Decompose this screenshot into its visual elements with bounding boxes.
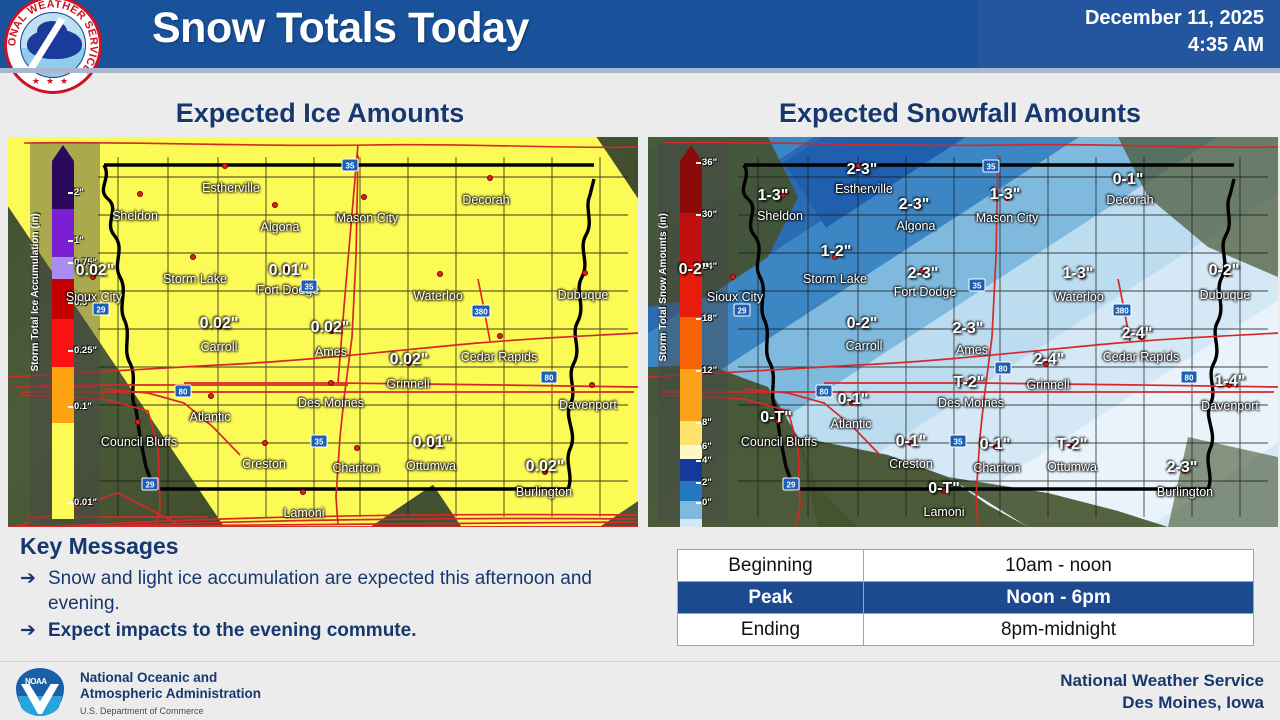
timing-phase-value: Noon - 6pm xyxy=(864,582,1254,614)
snow-legend-seg-8in xyxy=(680,421,702,445)
amount-label: 0.02" xyxy=(311,319,350,337)
snow-legend-tick-3: 18" xyxy=(702,313,717,324)
noaa-name-line-2: Atmospheric Administration xyxy=(80,686,261,702)
city-label: Grinnell xyxy=(1026,378,1069,392)
noaa-name-line-1: National Oceanic and xyxy=(80,670,261,686)
city-label: Decorah xyxy=(1106,193,1153,207)
amount-label: 0-T" xyxy=(928,480,960,498)
city-label: Atlantic xyxy=(190,410,231,424)
noaa-wordmark: NOAA xyxy=(25,677,47,686)
city-marker-dot xyxy=(190,254,196,260)
snow-legend-arrow-icon xyxy=(680,145,702,161)
city-marker-dot xyxy=(272,202,278,208)
city-label: Estherville xyxy=(835,182,893,196)
city-label: Lamoni xyxy=(284,506,325,520)
amount-label: 2-3" xyxy=(847,161,878,179)
ice-legend-tick-6: 0.01" xyxy=(74,497,97,508)
city-label: Chariton xyxy=(973,461,1020,475)
storm-timing-table: Beginning10am - noonPeakNoon - 6pmEnding… xyxy=(677,549,1254,646)
snow-legend-axis-label: Storm Total Snow Amounts (in) xyxy=(658,213,669,361)
city-label: Cedar Rapids xyxy=(1103,350,1179,364)
city-marker-dot xyxy=(589,382,595,388)
amount-label: 2-4" xyxy=(1034,351,1065,369)
city-label: Chariton xyxy=(332,461,379,475)
amount-label: 1-4" xyxy=(1215,373,1246,391)
city-label: Atlantic xyxy=(831,417,872,431)
city-label: Des Moines xyxy=(298,396,364,410)
key-message-item: ➔Snow and light ice accumulation are exp… xyxy=(20,566,640,616)
amount-label: 2-3" xyxy=(1167,459,1198,477)
seal-stars-icon: ★★★ xyxy=(7,76,99,87)
snow-legend-tick-7: 4" xyxy=(702,455,712,466)
snow-legend-tick-5: 8" xyxy=(702,417,712,428)
city-label: Lamoni xyxy=(924,505,965,519)
ice-legend-seg-2in xyxy=(52,161,74,209)
timing-phase-label: Ending xyxy=(678,614,864,646)
amount-label: 2-3" xyxy=(899,196,930,214)
interstate-shield-icon: 35 xyxy=(342,159,359,172)
interstate-shield-icon: 35 xyxy=(950,435,967,448)
amount-label: T-2" xyxy=(954,374,985,392)
header-date: December 11, 2025 xyxy=(1085,5,1264,32)
interstate-shield-icon: 80 xyxy=(541,371,558,384)
snow-legend-tick-1: 30" xyxy=(702,209,717,220)
timing-phase-label: Peak xyxy=(678,582,864,614)
city-label: Creston xyxy=(889,457,933,471)
city-label: Des Moines xyxy=(938,396,1004,410)
key-messages-section: Key Messages ➔Snow and light ice accumul… xyxy=(20,533,640,645)
city-marker-dot xyxy=(730,274,736,280)
snow-legend-seg-12in xyxy=(680,369,702,421)
city-label: Creston xyxy=(242,457,286,471)
arrow-bullet-icon: ➔ xyxy=(20,618,48,643)
key-messages-list: ➔Snow and light ice accumulation are exp… xyxy=(20,566,640,643)
noaa-agency-name: National Oceanic and Atmospheric Adminis… xyxy=(80,670,261,716)
interstate-shield-icon: 35 xyxy=(969,279,986,292)
city-marker-dot xyxy=(487,175,493,181)
city-marker-dot xyxy=(361,194,367,200)
city-label: Dubuque xyxy=(558,288,609,302)
interstate-shield-icon: 29 xyxy=(734,304,751,317)
amount-label: 0-2" xyxy=(1209,262,1240,280)
city-marker-dot xyxy=(208,393,214,399)
interstate-shield-icon: 29 xyxy=(783,478,800,491)
amount-label: 0.02" xyxy=(390,351,429,369)
amount-label: 0-1" xyxy=(1113,171,1144,189)
city-marker-dot xyxy=(300,489,306,495)
expected-ice-amounts-map[interactable]: Storm Total Ice Accumulation (in) 2" 1" … xyxy=(8,137,638,527)
ice-legend-seg-075in xyxy=(52,257,74,279)
amount-label: 0-2" xyxy=(847,315,878,333)
city-label: Sheldon xyxy=(757,209,803,223)
ice-legend-arrow-icon xyxy=(52,145,74,161)
city-marker-dot xyxy=(497,333,503,339)
amount-label: 1-3" xyxy=(758,187,789,205)
noaa-seal-icon: NOAA xyxy=(16,668,64,716)
amount-label: 1-2" xyxy=(821,243,852,261)
city-label: Fort Dodge xyxy=(894,285,957,299)
interstate-shield-icon: 35 xyxy=(311,435,328,448)
svg-text:NATIONAL WEATHER SERVICE: NATIONAL WEATHER SERVICE xyxy=(7,0,99,76)
city-label: Dubuque xyxy=(1200,288,1251,302)
city-label: Council Bluffs xyxy=(101,435,177,449)
snow-legend-seg-18in xyxy=(680,317,702,369)
interstate-shield-icon: 380 xyxy=(1113,304,1132,317)
arrow-bullet-icon: ➔ xyxy=(20,566,48,591)
ice-legend-seg-01in xyxy=(52,367,74,423)
city-label: Sheldon xyxy=(112,209,158,223)
amount-label: 0.02" xyxy=(200,315,239,333)
amount-label: 1-3" xyxy=(990,186,1021,204)
header-time: 4:35 AM xyxy=(1188,32,1264,59)
timing-phase-value: 10am - noon xyxy=(864,550,1254,582)
city-label: Mason City xyxy=(976,211,1039,225)
amount-label: 0-1" xyxy=(838,391,869,409)
ice-legend-seg-001in xyxy=(52,423,74,519)
city-label: Waterloo xyxy=(1054,290,1104,304)
city-label: Burlington xyxy=(1157,485,1213,499)
interstate-shield-icon: 80 xyxy=(175,385,192,398)
snow-legend-tick-8: 2" xyxy=(702,477,712,488)
city-label: Carroll xyxy=(846,339,883,353)
interstate-shield-icon: 80 xyxy=(816,385,833,398)
ice-legend-seg-1in xyxy=(52,209,74,257)
timing-row: Beginning10am - noon xyxy=(678,550,1254,582)
city-label: Storm Lake xyxy=(803,272,867,286)
amount-label: 0.01" xyxy=(413,434,452,452)
city-label: Waterloo xyxy=(413,289,463,303)
amount-label: 0.02" xyxy=(76,262,115,280)
amount-label: 2-3" xyxy=(908,265,939,283)
city-label: Storm Lake xyxy=(163,272,227,286)
page-footer: NOAA National Oceanic and Atmospheric Ad… xyxy=(0,661,1280,720)
amount-label: 1-3" xyxy=(1063,265,1094,283)
city-label: Council Bluffs xyxy=(741,435,817,449)
city-marker-dot xyxy=(222,163,228,169)
city-marker-dot xyxy=(328,380,334,386)
ice-map-title: Expected Ice Amounts xyxy=(0,98,640,129)
snow-legend-seg-36in xyxy=(680,161,702,213)
amount-label: 0-2" xyxy=(679,261,710,279)
city-marker-dot xyxy=(137,191,143,197)
city-label: Ames xyxy=(315,345,347,359)
city-label: Ottumwa xyxy=(406,459,456,473)
interstate-shield-icon: 380 xyxy=(472,305,491,318)
snow-legend-seg-2in xyxy=(680,481,702,501)
interstate-shield-icon: 80 xyxy=(1181,371,1198,384)
key-messages-title: Key Messages xyxy=(20,533,640,560)
city-label: Algona xyxy=(261,220,300,234)
interstate-shield-icon: 35 xyxy=(301,280,318,293)
city-marker-dot xyxy=(437,271,443,277)
timing-row: Ending8pm-midnight xyxy=(678,614,1254,646)
city-label: Davenport xyxy=(559,398,617,412)
ice-legend-colorbar: Storm Total Ice Accumulation (in) 2" 1" … xyxy=(30,143,150,523)
key-message-text: Expect impacts to the evening commute. xyxy=(48,618,416,643)
city-label: Burlington xyxy=(516,485,572,499)
city-label: Cedar Rapids xyxy=(461,350,537,364)
interstate-shield-icon: 80 xyxy=(995,362,1012,375)
timing-phase-label: Beginning xyxy=(678,550,864,582)
city-label: Ames xyxy=(956,343,988,357)
interstate-shield-icon: 29 xyxy=(142,478,159,491)
ice-legend-seg-025in xyxy=(52,319,74,367)
city-label: Estherville xyxy=(202,181,260,195)
nws-office-credit: National Weather Service Des Moines, Iow… xyxy=(1060,670,1264,714)
key-message-text: Snow and light ice accumulation are expe… xyxy=(48,566,640,616)
snow-legend-tick-4: 12" xyxy=(702,365,717,376)
amount-label: T-2" xyxy=(1057,436,1088,454)
snow-legend-tick-6: 6" xyxy=(702,441,712,452)
city-label: Decorah xyxy=(462,193,509,207)
city-label: Carroll xyxy=(201,340,238,354)
nws-office-line-1: National Weather Service xyxy=(1060,670,1264,692)
city-label: Davenport xyxy=(1201,399,1259,413)
amount-label: 2-4" xyxy=(1122,325,1153,343)
timing-phase-value: 8pm-midnight xyxy=(864,614,1254,646)
ice-legend-tick-1: 1" xyxy=(74,235,84,246)
ice-legend-gradient xyxy=(52,161,74,519)
national-weather-service-seal-icon: NATIONAL WEATHER SERVICE ★★★ xyxy=(4,0,102,94)
snow-map-title: Expected Snowfall Amounts xyxy=(640,98,1280,129)
ice-legend-tick-4: 0.25" xyxy=(74,345,97,356)
city-label: Sioux City xyxy=(707,290,763,304)
ice-legend-axis-label: Storm Total Ice Accumulation (in) xyxy=(30,213,41,371)
city-label: Grinnell xyxy=(386,377,429,391)
timing-row: PeakNoon - 6pm xyxy=(678,582,1254,614)
snow-legend-seg-4in xyxy=(680,459,702,481)
amount-label: 0-1" xyxy=(896,433,927,451)
city-marker-dot xyxy=(582,270,588,276)
city-marker-dot xyxy=(135,419,141,425)
snow-legend-seg-base xyxy=(680,519,702,527)
ice-legend-tick-5: 0.1" xyxy=(74,401,92,412)
snow-legend-tick-0: 36" xyxy=(702,157,717,168)
snow-legend-seg-30in xyxy=(680,213,702,265)
nws-office-line-2: Des Moines, Iowa xyxy=(1060,692,1264,714)
key-message-item: ➔Expect impacts to the evening commute. xyxy=(20,618,640,643)
city-marker-dot xyxy=(262,440,268,446)
amount-label: 2-3" xyxy=(953,320,984,338)
page-title: Snow Totals Today xyxy=(152,4,529,53)
city-label: Algona xyxy=(897,219,936,233)
city-label: Ottumwa xyxy=(1047,460,1097,474)
city-label: Mason City xyxy=(336,211,399,225)
city-marker-dot xyxy=(354,445,360,451)
snow-legend-tick-9: 0" xyxy=(702,497,712,508)
interstate-shield-icon: 35 xyxy=(983,160,1000,173)
page-header: NATIONAL WEATHER SERVICE ★★★ Snow Totals… xyxy=(0,0,1280,68)
expected-snowfall-amounts-map[interactable]: Storm Total Snow Amounts (in) 36" 30" 24… xyxy=(648,137,1278,527)
amount-label: 0-1" xyxy=(980,436,1011,454)
ice-legend-tick-0: 2" xyxy=(74,187,84,198)
noaa-department-line: U.S. Department of Commerce xyxy=(80,706,261,716)
header-divider xyxy=(0,68,1280,73)
amount-label: 0.01" xyxy=(269,262,308,280)
amount-label: 0-T" xyxy=(760,409,792,427)
amount-label: 0.02" xyxy=(526,458,565,476)
interstate-shield-icon: 29 xyxy=(93,303,110,316)
